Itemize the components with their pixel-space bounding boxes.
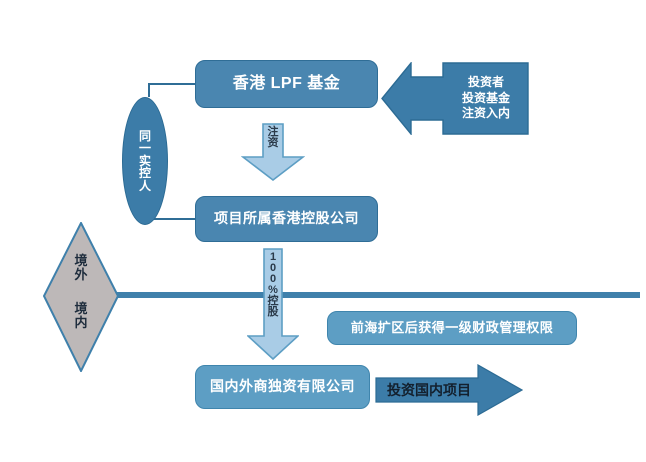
boundary-diamond-labels: 境 外 境 内: [43, 222, 119, 372]
bracket-line-top: [148, 83, 196, 85]
investor-line-1: 投资者: [468, 75, 504, 91]
investor-callout-text[interactable]: 投资者 投资基金 注资入内: [443, 62, 529, 135]
boundary-divider-line: [78, 292, 640, 298]
investor-line-2: 投资基金: [462, 91, 510, 107]
node-hk-holding-company[interactable]: 项目所属香港控股公司: [195, 196, 378, 242]
diagram-canvas: 境 外 境 内 同 一 实 控 人 香港 LPF 基金 投资者 投资基金 注资入…: [0, 0, 646, 462]
invest-domestic-label: 投资国内项目: [387, 380, 471, 400]
bracket-line-top-stub: [148, 83, 150, 97]
same-controller-char-5: 人: [139, 180, 151, 193]
same-controller-ellipse[interactable]: 同 一 实 控 人: [122, 97, 168, 225]
same-controller-char-4: 控: [139, 167, 151, 180]
node-qianhai-note-label: 前海扩区后获得一级财政管理权限: [351, 320, 554, 336]
same-controller-char-2: 一: [139, 142, 151, 155]
inject-char-2: 资: [268, 138, 279, 149]
node-wfoe[interactable]: 国内外商独资有限公司: [195, 365, 370, 409]
investor-line-3: 注资入内: [462, 106, 510, 122]
node-wfoe-label: 国内外商独资有限公司: [210, 378, 355, 396]
node-hk-holding-company-label: 项目所属香港控股公司: [214, 210, 359, 228]
offshore-label: 境 外: [43, 254, 119, 281]
node-hk-lpf-fund[interactable]: 香港 LPF 基金: [195, 60, 378, 108]
control-char-6: 股: [268, 307, 279, 318]
node-hk-lpf-fund-label: 香港 LPF 基金: [233, 74, 341, 94]
node-qianhai-note[interactable]: 前海扩区后获得一级财政管理权限: [327, 311, 577, 345]
onshore-label: 境 内: [43, 302, 119, 329]
